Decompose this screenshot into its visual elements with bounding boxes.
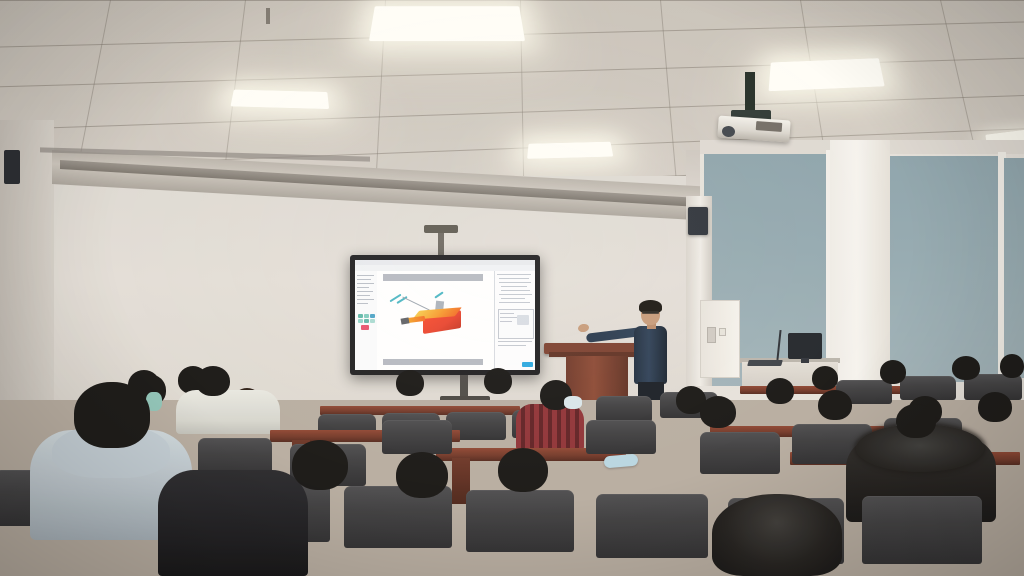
ceiling-light-mid-center — [527, 142, 613, 159]
ceiling-light-front-center — [369, 6, 525, 41]
presenter-jacket — [634, 326, 667, 384]
face-mask — [564, 396, 582, 409]
keyboard[interactable] — [747, 360, 783, 366]
student-head — [292, 440, 348, 490]
seat — [382, 420, 452, 454]
color-swatch[interactable] — [364, 319, 369, 323]
window-blind-right — [890, 156, 1000, 382]
student-head — [498, 448, 548, 492]
seat — [596, 494, 708, 558]
vector-arrow — [434, 291, 443, 298]
student-white-puffer — [176, 390, 280, 434]
student-dark-coat — [158, 470, 308, 576]
glasses-icon — [642, 311, 659, 314]
wall-speaker-left — [4, 150, 20, 184]
display-screen[interactable] — [355, 260, 535, 370]
control-monitor — [788, 333, 822, 359]
control-switch[interactable] — [719, 328, 726, 336]
viewport-status-band — [383, 359, 483, 365]
seat — [862, 496, 982, 564]
projector-vent — [756, 121, 783, 132]
ceiling-hook — [266, 8, 270, 24]
color-swatch[interactable] — [358, 319, 363, 323]
color-swatch[interactable] — [364, 314, 369, 318]
ceiling-light-mid-left — [231, 90, 330, 109]
seat — [466, 490, 574, 552]
app-model-tree-panel[interactable] — [494, 271, 535, 370]
student-head — [74, 382, 150, 448]
ceiling-light-front-right — [769, 58, 885, 91]
seat — [700, 432, 780, 474]
seat — [596, 396, 652, 422]
wall-speaker-right — [688, 207, 708, 235]
camera-icon — [424, 225, 458, 233]
window-blind-far-right — [1004, 158, 1024, 378]
projector-mount-pole — [745, 72, 755, 114]
control-panel[interactable] — [707, 327, 716, 343]
color-swatch[interactable] — [358, 314, 363, 318]
app-3d-viewport[interactable] — [377, 271, 495, 370]
apply-button[interactable] — [522, 362, 533, 367]
viewport-title-band — [383, 274, 483, 281]
student-head — [712, 494, 842, 576]
color-swatch[interactable] — [370, 314, 375, 318]
color-swatch[interactable] — [370, 319, 375, 323]
interactive-display[interactable] — [350, 255, 540, 375]
student-head — [896, 404, 936, 438]
model-gripper — [401, 317, 410, 324]
app-tool-palette[interactable] — [355, 271, 378, 370]
color-swatch-active[interactable] — [361, 325, 369, 330]
student-red-plaid — [516, 404, 584, 450]
monitor-stand — [801, 358, 809, 363]
preview-thumb — [517, 315, 529, 325]
student-head — [396, 452, 448, 498]
student-head — [196, 366, 230, 396]
lecture-hall-photo — [0, 0, 1024, 576]
av-control-cabinet — [700, 300, 740, 378]
seat — [586, 420, 656, 454]
